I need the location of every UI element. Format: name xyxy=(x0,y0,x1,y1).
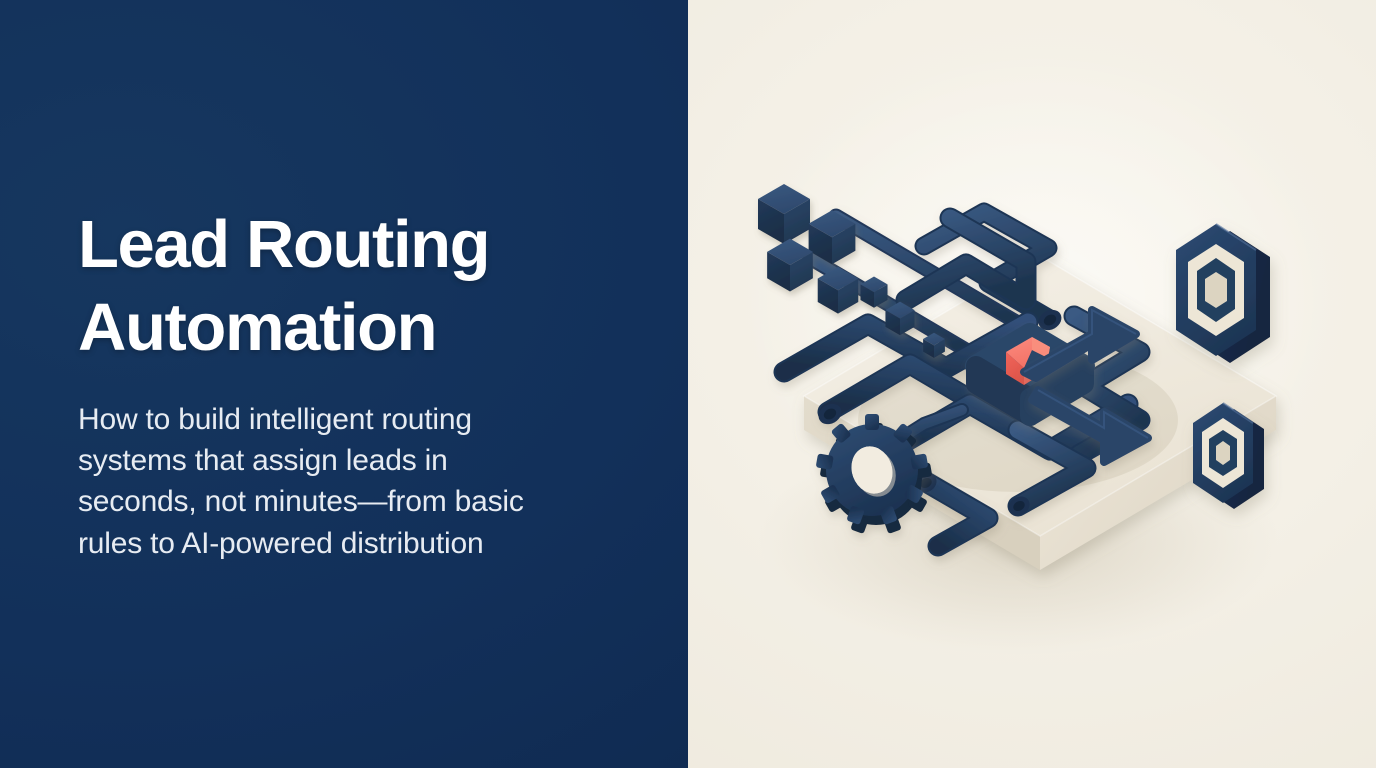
page-subtitle-line-2: systems that assign leads in xyxy=(78,440,628,481)
page-subtitle-line-3: seconds, not minutes—from basic xyxy=(78,481,628,522)
page-title: Lead Routing Automation xyxy=(78,204,628,369)
right-illustration-panel xyxy=(688,0,1376,768)
title-slide: Lead Routing Automation How to build int… xyxy=(0,0,1376,768)
page-subtitle-line-4: rules to AI-powered distribution xyxy=(78,523,628,564)
page-title-line-2: Automation xyxy=(78,287,628,369)
isometric-lead-routing-diagram xyxy=(688,0,1376,768)
page-subtitle-line-1: How to build intelligent routing xyxy=(78,399,628,440)
page-subtitle: How to build intelligent routing systems… xyxy=(78,399,628,563)
left-text-panel: Lead Routing Automation How to build int… xyxy=(0,0,688,768)
page-title-line-1: Lead Routing xyxy=(78,204,628,286)
